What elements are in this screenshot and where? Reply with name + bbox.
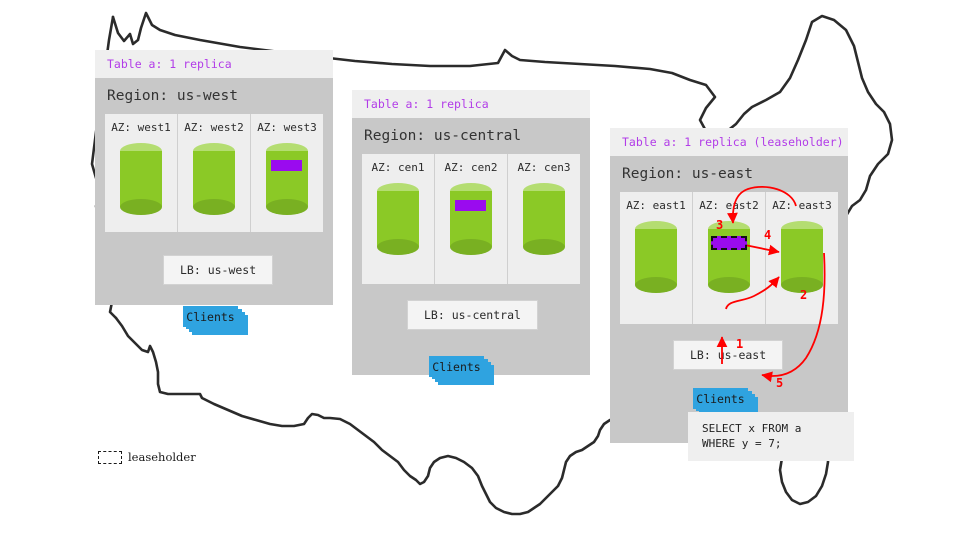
clients-stack-us-west[interactable]: Clients [183, 306, 249, 336]
az-cell-cen3[interactable]: AZ: cen3 [508, 154, 580, 284]
replica-cylinder-cen3[interactable] [523, 183, 565, 255]
replica-cylinder-west2[interactable] [193, 143, 235, 215]
az-label-west3: AZ: west3 [257, 121, 317, 134]
arrow-number-4: 4 [764, 228, 771, 242]
replica-cylinder-cen1[interactable] [377, 183, 419, 255]
load-balancer-us-central[interactable]: LB: us-central [407, 300, 538, 330]
region-title-us-central: Region: us-central [362, 118, 580, 154]
arrow-number-5: 5 [776, 376, 783, 390]
cylinder-bottom [450, 239, 492, 255]
clients-label-us-east[interactable]: Clients [693, 388, 748, 409]
region-body-us-west: Region: us-west AZ: west1 AZ: west2 [95, 78, 333, 305]
region-header-us-west: Table a: 1 replica [95, 50, 333, 78]
region-body-us-east: Region: us-east AZ: east1 AZ: east2 [610, 156, 848, 443]
az-label-east2: AZ: east2 [699, 199, 759, 212]
az-cell-west1[interactable]: AZ: west1 [105, 114, 178, 232]
region-header-us-east: Table a: 1 replica (leaseholder) [610, 128, 848, 156]
region-panel-us-central: Table a: 1 replica Region: us-central AZ… [352, 90, 590, 375]
az-cell-west3[interactable]: AZ: west3 [251, 114, 323, 232]
az-cell-west2[interactable]: AZ: west2 [178, 114, 251, 232]
clients-label-us-central[interactable]: Clients [429, 356, 484, 377]
region-body-us-central: Region: us-central AZ: cen1 AZ: cen2 [352, 118, 590, 375]
az-cell-east1[interactable]: AZ: east1 [620, 192, 693, 324]
az-cell-east2[interactable]: AZ: east2 [693, 192, 766, 324]
region-title-us-east: Region: us-east [620, 156, 838, 192]
clients-stack-us-central[interactable]: Clients [429, 356, 495, 386]
az-label-cen1: AZ: cen1 [372, 161, 425, 174]
replica-cylinder-west3[interactable] [266, 143, 308, 215]
az-row-us-central: AZ: cen1 AZ: cen2 [362, 154, 580, 284]
arrow-number-3: 3 [716, 218, 723, 232]
cylinder-bottom [635, 277, 677, 293]
cylinder-bottom [377, 239, 419, 255]
az-row-us-east: AZ: east1 AZ: east2 [620, 192, 838, 324]
leaseholder-marker-east2 [711, 236, 747, 250]
replica-cylinder-east2[interactable] [708, 221, 750, 293]
replica-cylinder-east3[interactable] [781, 221, 823, 293]
cylinder-bottom [193, 199, 235, 215]
arrow-number-2: 2 [800, 288, 807, 302]
load-balancer-us-west[interactable]: LB: us-west [163, 255, 273, 285]
replica-cylinder-east1[interactable] [635, 221, 677, 293]
cylinder-bottom [708, 277, 750, 293]
az-label-west1: AZ: west1 [111, 121, 171, 134]
az-label-cen3: AZ: cen3 [518, 161, 571, 174]
region-header-us-central: Table a: 1 replica [352, 90, 590, 118]
legend-label: leaseholder [128, 450, 196, 464]
az-label-east1: AZ: east1 [626, 199, 686, 212]
sql-query-box: SELECT x FROM a WHERE y = 7; [688, 412, 854, 461]
az-label-east3: AZ: east3 [772, 199, 832, 212]
replica-cylinder-west1[interactable] [120, 143, 162, 215]
cylinder-bottom [266, 199, 308, 215]
az-label-west2: AZ: west2 [184, 121, 244, 134]
region-title-us-west: Region: us-west [105, 78, 323, 114]
replica-cylinder-cen2[interactable] [450, 183, 492, 255]
arrow-number-1: 1 [736, 337, 743, 351]
az-cell-cen1[interactable]: AZ: cen1 [362, 154, 435, 284]
legend-leaseholder: leaseholder [98, 450, 196, 464]
load-balancer-us-east[interactable]: LB: us-east [673, 340, 783, 370]
diagram-canvas: Table a: 1 replica Region: us-west AZ: w… [0, 0, 960, 540]
az-row-us-west: AZ: west1 AZ: west2 AZ [105, 114, 323, 232]
clients-label-us-west[interactable]: Clients [183, 306, 238, 327]
az-cell-cen2[interactable]: AZ: cen2 [435, 154, 508, 284]
cylinder-bottom [523, 239, 565, 255]
replica-marker-cen2 [455, 200, 486, 211]
az-label-cen2: AZ: cen2 [445, 161, 498, 174]
region-panel-us-east: Table a: 1 replica (leaseholder) Region:… [610, 128, 848, 443]
replica-marker-west3 [271, 160, 302, 171]
region-panel-us-west: Table a: 1 replica Region: us-west AZ: w… [95, 50, 333, 305]
dashed-rect-icon [98, 451, 122, 464]
cylinder-bottom [120, 199, 162, 215]
az-cell-east3[interactable]: AZ: east3 [766, 192, 838, 324]
